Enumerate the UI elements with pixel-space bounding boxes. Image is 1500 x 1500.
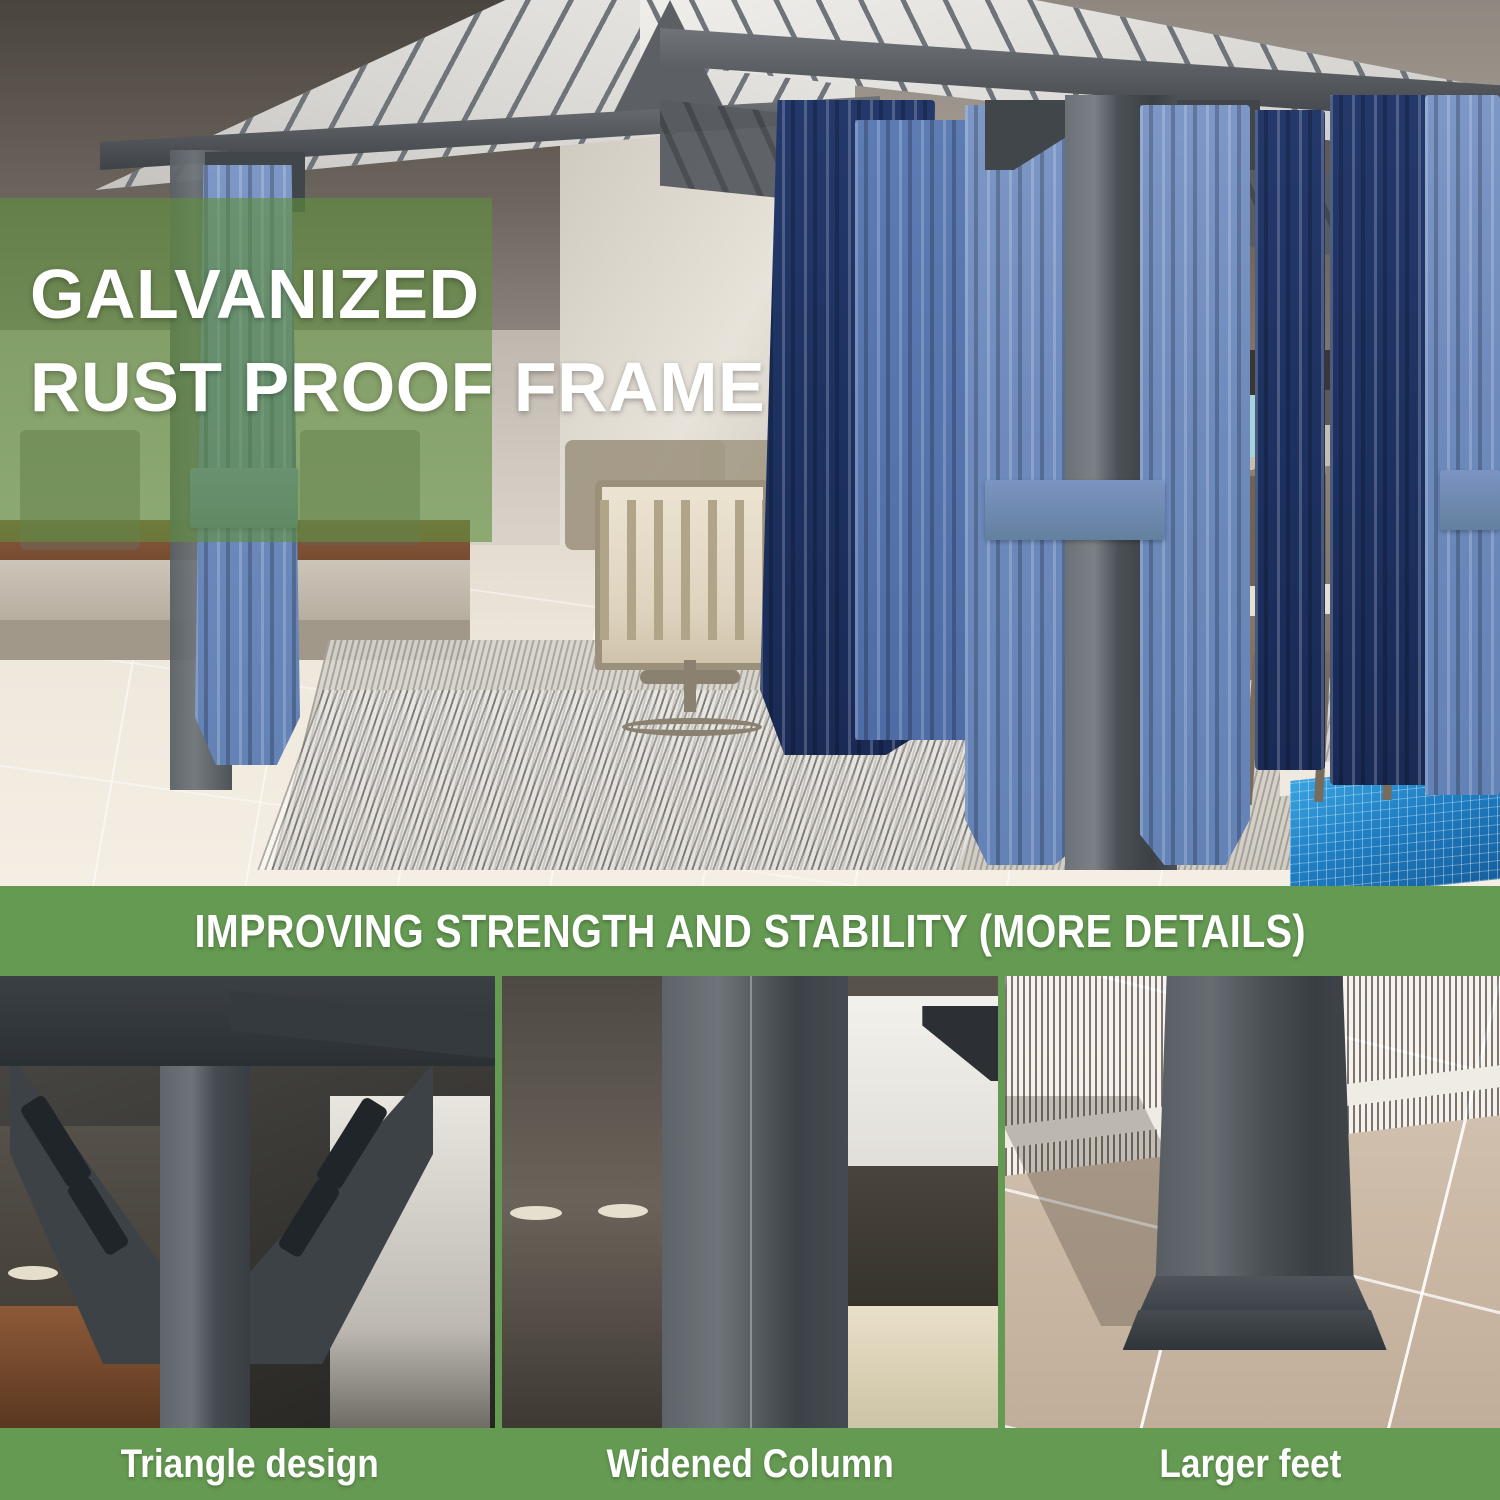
curtain-tieback-center — [985, 480, 1165, 540]
swivel-chair-hub — [640, 670, 740, 684]
curtain-pleats — [1330, 95, 1430, 785]
caption-cell-larger-feet: Larger feet — [1000, 1442, 1500, 1487]
feature-banner-text: IMPROVING STRENGTH AND STABILITY (MORE D… — [194, 904, 1305, 958]
swivel-chair-base-ring — [622, 718, 762, 736]
curtain-pleats — [1255, 110, 1325, 770]
panel1-stool — [8, 1266, 58, 1280]
caption-cell-widened-column: Widened Column — [500, 1442, 1000, 1487]
panel-image-widened-column — [502, 976, 997, 1428]
curtain-light-blue-edge-right — [1425, 95, 1500, 795]
swivel-chair-slats — [600, 500, 763, 640]
panel2-stool — [598, 1204, 648, 1218]
column-highlight-edge — [750, 976, 752, 1428]
headline-line-2: RUST PROOF FRAME — [30, 341, 1230, 434]
swivel-chair-post — [684, 660, 696, 712]
detail-panel-larger-feet[interactable] — [1005, 976, 1500, 1428]
panel2-interior-left — [502, 976, 667, 1428]
post-detail — [1155, 976, 1355, 1306]
panel2-stool — [510, 1206, 562, 1220]
panel-image-triangle-design — [0, 976, 495, 1428]
curtain-dark-blue-right — [1255, 110, 1325, 770]
feature-banner: IMPROVING STRENGTH AND STABILITY (MORE D… — [0, 886, 1500, 976]
caption-larger-feet: Larger feet — [1159, 1442, 1341, 1487]
caption-triangle-design: Triangle design — [121, 1442, 379, 1487]
headline-line-1: GALVANIZED — [30, 255, 480, 333]
caption-cell-triangle-design: Triangle design — [0, 1442, 500, 1487]
hero-product-photo: GALVANIZED RUST PROOF FRAME — [0, 0, 1500, 888]
curtain-pleats — [1425, 95, 1500, 795]
detail-panel-triangle-design[interactable] — [0, 976, 495, 1428]
widened-column-detail — [662, 976, 848, 1428]
curtain-tieback-right — [1440, 470, 1500, 530]
post-base-foot-plate — [1123, 1310, 1387, 1350]
caption-widened-column: Widened Column — [606, 1442, 893, 1487]
panel1-corner-post — [160, 1036, 250, 1428]
panel-captions-band: Triangle design Widened Column Larger fe… — [0, 1428, 1500, 1500]
headline-text: GALVANIZED RUST PROOF FRAME — [30, 248, 1230, 434]
panel-image-larger-feet — [1005, 976, 1500, 1428]
panel2-table-surface — [847, 1306, 997, 1428]
detail-panel-widened-column[interactable] — [502, 976, 997, 1428]
curtain-dark-blue-far-right — [1330, 95, 1430, 785]
detail-panels-row — [0, 976, 1500, 1428]
product-marketing-image: GALVANIZED RUST PROOF FRAME IMPROVING ST… — [0, 0, 1500, 1500]
